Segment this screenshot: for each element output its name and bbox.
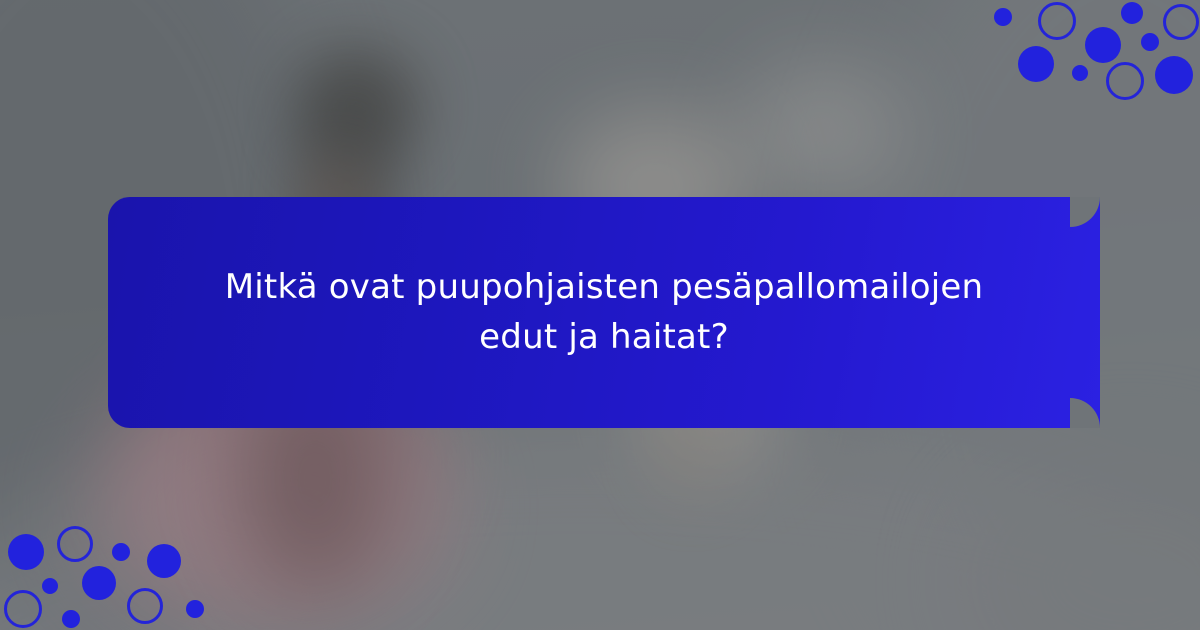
social-card-canvas: Mitkä ovat puupohjaisten pesäpallomailoj…	[0, 0, 1200, 630]
card-notch-top-right	[1070, 197, 1100, 227]
card-notch-bottom-right	[1070, 398, 1100, 428]
question-card: Mitkä ovat puupohjaisten pesäpallomailoj…	[108, 197, 1100, 428]
question-title: Mitkä ovat puupohjaisten pesäpallomailoj…	[140, 263, 1068, 362]
